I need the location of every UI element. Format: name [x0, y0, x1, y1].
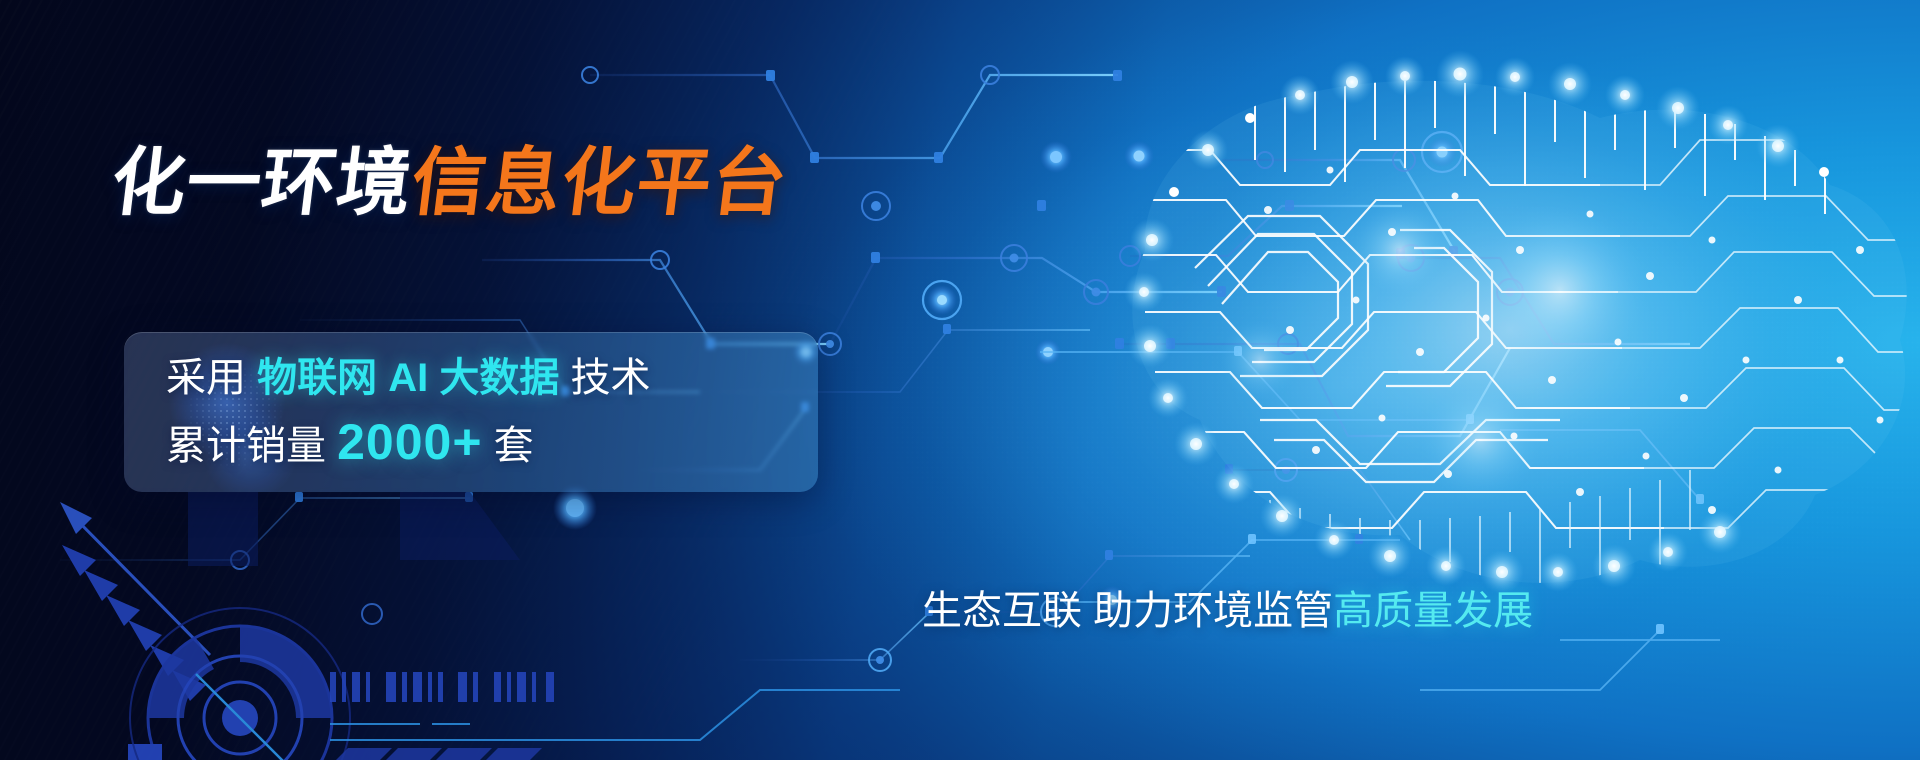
- hud-radar-dial: [128, 608, 350, 760]
- marketing-banner: 化一环境信息化平台 采用 物联网 AI 大数据 技术 累计销量 2000+ 套 …: [0, 0, 1920, 760]
- circuit-brain-icon: [1100, 50, 1920, 620]
- panel-text-block: 采用 物联网 AI 大数据 技术 累计销量 2000+ 套: [124, 332, 818, 492]
- feature-line-1-highlight: 物联网 AI 大数据: [257, 356, 559, 400]
- banner-tagline: 生态互联 助力环境监管高质量发展: [922, 586, 1533, 636]
- banner-title: 化一环境信息化平台: [107, 146, 791, 220]
- feature-line-1-prefix: 采用: [166, 356, 257, 400]
- feature-panel: 采用 物联网 AI 大数据 技术 累计销量 2000+ 套: [124, 332, 818, 492]
- feature-line-1-suffix: 技术: [559, 356, 650, 400]
- feature-line-2-suffix: 套: [483, 424, 534, 468]
- feature-line-sales: 累计销量 2000+ 套: [166, 418, 534, 470]
- tagline-white-part: 生态互联 助力环境监管: [922, 589, 1333, 633]
- title-white-part: 化一环境: [107, 146, 416, 220]
- sales-count-value: 2000+: [337, 414, 482, 470]
- title-orange-part: 信息化平台: [407, 146, 791, 220]
- tagline-highlight-part: 高质量发展: [1333, 589, 1533, 633]
- feature-line-technology: 采用 物联网 AI 大数据 技术: [166, 354, 650, 402]
- feature-line-2-prefix: 累计销量: [166, 424, 337, 468]
- barcode-bars: [330, 672, 554, 702]
